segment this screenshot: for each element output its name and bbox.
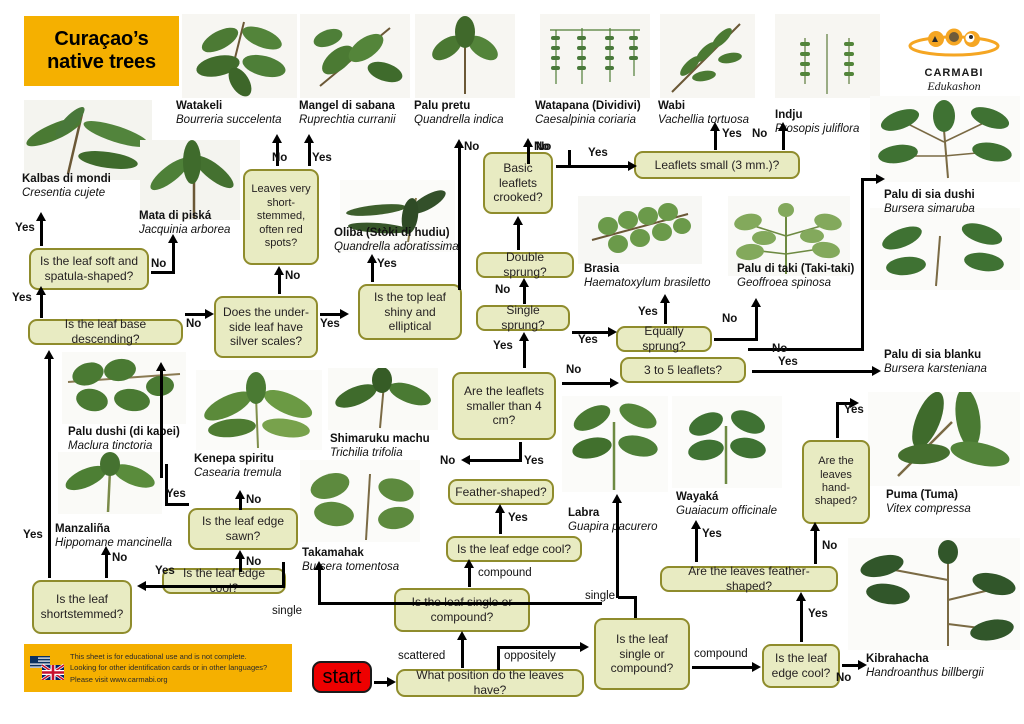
flow-line bbox=[318, 602, 602, 605]
flow-line bbox=[497, 646, 500, 670]
leaf-illustration bbox=[870, 96, 1020, 182]
flow-line bbox=[714, 128, 717, 150]
carmabi-logo-icon bbox=[898, 22, 1010, 62]
flow-line bbox=[634, 596, 637, 618]
edge-label-oppositely: oppositely bbox=[504, 650, 556, 662]
species-scientific-name: Vitex compressa bbox=[886, 502, 971, 517]
edge-label-yes: Yes bbox=[320, 318, 340, 330]
arrowhead-up bbox=[796, 592, 806, 601]
leaf-illustration bbox=[578, 196, 702, 264]
photo-watapana bbox=[540, 14, 650, 98]
species-name: Takamahak bbox=[302, 546, 399, 560]
photo-labra bbox=[562, 396, 668, 492]
edge-label-yes: Yes bbox=[778, 356, 798, 368]
photo-palu-dushi bbox=[62, 352, 186, 424]
arrowhead-right bbox=[858, 660, 867, 670]
leaf-illustration bbox=[58, 452, 162, 514]
edge-label-single: single bbox=[585, 590, 615, 602]
leaf-illustration bbox=[62, 352, 186, 424]
flow-line bbox=[695, 526, 698, 562]
flow-line bbox=[499, 510, 502, 534]
species-scientific-name: Caesalpinia coriaria bbox=[535, 113, 641, 128]
edge-label-no: No bbox=[112, 552, 127, 564]
leaf-illustration bbox=[300, 460, 420, 542]
edge-label-no: No bbox=[566, 364, 581, 376]
arrowhead-up bbox=[304, 134, 314, 143]
decision-leaf-edge-sawn[interactable]: Is the leaf edge sawn? bbox=[188, 508, 298, 550]
arrowhead-up bbox=[751, 298, 761, 307]
species-scientific-name: Handroanthus billbergii bbox=[866, 666, 984, 681]
arrowhead-up bbox=[464, 559, 474, 568]
edge-label-yes: Yes bbox=[166, 488, 186, 500]
edge-label-yes: Yes bbox=[578, 334, 598, 346]
arrowhead-up bbox=[810, 522, 820, 531]
species-name: Brasia bbox=[584, 262, 711, 276]
species-scientific-name: Vachellia tortuosa bbox=[658, 113, 749, 128]
species-scientific-name: Casearia tremula bbox=[194, 466, 282, 481]
leaf-illustration bbox=[182, 14, 297, 98]
decision-leaf-base-descending[interactable]: Is the leaf base descending? bbox=[28, 319, 183, 345]
species-name: Mangel di sabana bbox=[299, 99, 396, 113]
flow-line bbox=[165, 503, 189, 506]
arrowhead-left bbox=[461, 455, 470, 465]
edge-label-no: No bbox=[752, 128, 767, 140]
species-name: Wabi bbox=[658, 99, 749, 113]
arrowhead-right bbox=[580, 642, 589, 652]
species-name: Kalbas di mondi bbox=[22, 172, 111, 186]
edge-label-yes: Yes bbox=[508, 512, 528, 524]
arrowhead-up bbox=[778, 122, 788, 131]
edge-label-yes: Yes bbox=[493, 340, 513, 352]
arrowhead-up bbox=[101, 546, 111, 555]
edge-label-compound: compound bbox=[694, 648, 748, 660]
arrowhead-up bbox=[612, 494, 622, 503]
arrowhead-right bbox=[628, 161, 637, 171]
photo-wabi bbox=[660, 14, 755, 98]
flow-line bbox=[523, 338, 526, 368]
edge-label-no: No bbox=[246, 494, 261, 506]
arrowhead-up bbox=[36, 286, 46, 295]
decision-3-to-5-leaflets[interactable]: 3 to 5 leaflets? bbox=[620, 357, 746, 383]
species-name: Indju bbox=[775, 108, 859, 122]
footer-line-2: Looking for other identification cards o… bbox=[70, 662, 267, 673]
usa-uk-flags-icon bbox=[30, 656, 64, 680]
arrowhead-up bbox=[495, 504, 505, 513]
photo-watakeli bbox=[182, 14, 297, 98]
arrowhead-up bbox=[523, 138, 533, 147]
species-caption-labra: Labra Guapira pacurero bbox=[568, 506, 658, 535]
arrowhead-right bbox=[610, 378, 619, 388]
flow-line bbox=[836, 402, 839, 438]
footer-line-1: This sheet is for educational use and is… bbox=[70, 651, 267, 662]
edge-label-yes: Yes bbox=[312, 152, 332, 164]
species-name: Labra bbox=[568, 506, 658, 520]
arrowhead-up bbox=[513, 216, 523, 225]
flow-line bbox=[517, 222, 520, 250]
edge-label-scattered: scattered bbox=[398, 650, 445, 662]
flow-line bbox=[519, 442, 522, 462]
edge-label-no: No bbox=[464, 141, 479, 153]
species-caption-brasia: Brasia Haematoxylum brasiletto bbox=[584, 262, 711, 291]
arrowhead-up bbox=[156, 362, 166, 371]
flow-line bbox=[185, 313, 207, 316]
species-name: Oliba (Stòki di hudiu) bbox=[334, 226, 459, 240]
arrowhead-up bbox=[314, 561, 324, 570]
arrowhead-right bbox=[387, 677, 396, 687]
flow-line bbox=[461, 638, 464, 668]
arrowhead-up bbox=[519, 278, 529, 287]
photo-kibrahacha bbox=[848, 538, 1020, 650]
flags-icon bbox=[30, 656, 64, 680]
flow-line bbox=[458, 145, 461, 290]
decision-double-sprung[interactable]: Double sprung? bbox=[476, 252, 574, 278]
flow-line bbox=[814, 528, 817, 564]
arrowhead-right bbox=[752, 662, 761, 672]
flow-line bbox=[782, 128, 785, 150]
flow-line bbox=[568, 150, 571, 166]
arrowhead-up bbox=[44, 350, 54, 359]
photo-palu-pretu bbox=[415, 14, 515, 98]
flow-line bbox=[748, 348, 864, 351]
species-scientific-name: Haematoxylum brasiletto bbox=[584, 276, 711, 291]
flow-line bbox=[861, 178, 864, 350]
species-caption-manzalina: Manzaliña Hippomane mancinella bbox=[55, 522, 172, 551]
flow-line bbox=[320, 313, 342, 316]
photo-manzalina bbox=[58, 452, 162, 514]
flow-line bbox=[527, 144, 530, 164]
species-scientific-name: Quandrella adoratissima bbox=[334, 240, 459, 255]
logo-name: CARMABI bbox=[898, 67, 1010, 79]
leaf-illustration bbox=[328, 368, 438, 430]
species-scientific-name: Bursera simaruba bbox=[884, 202, 975, 217]
species-scientific-name: Quandrella indica bbox=[414, 113, 504, 128]
arrowhead-up bbox=[274, 266, 284, 275]
arrowhead-up bbox=[457, 631, 467, 640]
species-scientific-name: Jacquinia arborea bbox=[139, 223, 230, 238]
edge-label-yes: Yes bbox=[702, 528, 722, 540]
leaf-illustration bbox=[672, 396, 782, 488]
flow-line bbox=[752, 370, 876, 373]
edge-label-yes: Yes bbox=[524, 455, 544, 467]
species-name: Shimaruku machu bbox=[330, 432, 430, 446]
decision-soft-spatula-shaped[interactable]: Is the leaf soft and spatula-shaped? bbox=[29, 248, 149, 290]
edge-label-yes: Yes bbox=[808, 608, 828, 620]
decision-leaf-edge-cool-right[interactable]: Is the leaf edge cool? bbox=[762, 644, 840, 688]
species-name: Puma (Tuma) bbox=[886, 488, 971, 502]
species-scientific-name: Hippomane mancinella bbox=[55, 536, 172, 551]
arrowhead-up bbox=[235, 490, 245, 499]
flow-line bbox=[318, 568, 321, 604]
edge-label-yes: Yes bbox=[377, 258, 397, 270]
arrowhead-up bbox=[367, 254, 377, 263]
arrowhead-right bbox=[608, 327, 617, 337]
decision-hand-shaped[interactable]: Are the leaves hand-shaped? bbox=[802, 440, 870, 524]
arrowhead-right bbox=[876, 174, 885, 184]
species-name: Kenepa spiritu bbox=[194, 452, 282, 466]
flow-line bbox=[618, 596, 636, 599]
photo-puma bbox=[868, 392, 1020, 486]
leaf-illustration bbox=[540, 14, 650, 98]
flow-line bbox=[374, 681, 388, 684]
photo-kalbas-di-mondi bbox=[24, 100, 152, 180]
decision-what-position[interactable]: What position do the leaves have? bbox=[396, 669, 584, 697]
leaf-illustration bbox=[140, 140, 240, 220]
decision-leaflets-small-3mm[interactable]: Leaflets small (3 mm.)? bbox=[634, 151, 800, 179]
flow-line bbox=[48, 356, 51, 578]
species-name: Palu dushi (di kabei) bbox=[68, 425, 180, 439]
edge-label-no: No bbox=[186, 318, 201, 330]
decision-feather-shaped-right[interactable]: Are the leaves feather-shaped? bbox=[660, 566, 838, 592]
logo-subtitle: Edukashon bbox=[898, 79, 1010, 94]
edge-label-no: No bbox=[722, 313, 737, 325]
edge-label-yes: Yes bbox=[12, 292, 32, 304]
decision-single-or-compound-left[interactable]: Is the leaf single or compound? bbox=[394, 588, 530, 632]
edge-label-yes: Yes bbox=[23, 529, 43, 541]
arrowhead-right bbox=[872, 366, 881, 376]
flow-line bbox=[40, 292, 43, 318]
decision-leaf-shortstemmed[interactable]: Is the leaf shortstemmed? bbox=[32, 580, 132, 634]
species-caption-palu-pretu: Palu pretu Quandrella indica bbox=[414, 99, 504, 128]
arrowhead-up bbox=[710, 122, 720, 131]
photo-mangel-di-sabana bbox=[300, 14, 410, 98]
flow-line bbox=[497, 646, 581, 649]
edge-label-yes: Yes bbox=[155, 565, 175, 577]
arrowhead-up bbox=[691, 520, 701, 529]
arrowhead-up bbox=[36, 212, 46, 221]
decision-single-sprung[interactable]: Single sprung? bbox=[476, 305, 570, 331]
photo-brasia bbox=[578, 196, 702, 264]
leaf-illustration bbox=[562, 396, 668, 492]
arrowhead-up bbox=[272, 134, 282, 143]
species-scientific-name: Bourreria succelenta bbox=[176, 113, 281, 128]
decision-leaflets-smaller-4cm[interactable]: Are the leaflets smaller than 4 cm? bbox=[452, 372, 556, 440]
species-caption-watakeli: Watakeli Bourreria succelenta bbox=[176, 99, 281, 128]
identification-key-sheet: Curaçao’s native trees CARMABI Edukashon bbox=[0, 0, 1024, 724]
photo-palu-di-sia-dushi bbox=[870, 96, 1020, 182]
species-name: Watakeli bbox=[176, 99, 281, 113]
species-caption-palu-di-sia-dushi: Palu di sia dushi Bursera simaruba bbox=[884, 188, 975, 217]
species-name: Kibrahacha bbox=[866, 652, 984, 666]
edge-label-yes: Yes bbox=[638, 306, 658, 318]
photo-kenepa-spiritu bbox=[196, 370, 322, 450]
leaf-illustration bbox=[775, 14, 880, 98]
leaf-illustration bbox=[868, 392, 1020, 486]
species-name: Wayaká bbox=[676, 490, 777, 504]
flow-line bbox=[172, 240, 175, 273]
edge-label-no: No bbox=[440, 455, 455, 467]
flow-line bbox=[160, 368, 163, 478]
flow-line bbox=[616, 500, 619, 598]
species-caption-watapana: Watapana (Dividivi) Caesalpinia coriaria bbox=[535, 99, 641, 128]
species-name: Palu di sia blanku bbox=[884, 348, 987, 362]
species-caption-palu-di-sia-blanku: Palu di sia blanku Bursera karsteniana bbox=[884, 348, 987, 377]
edge-label-yes: Yes bbox=[588, 147, 608, 159]
species-name: Watapana (Dividivi) bbox=[535, 99, 641, 113]
decision-single-or-compound-right[interactable]: Is the leaf single or compound? bbox=[594, 618, 690, 690]
leaf-illustration bbox=[848, 538, 1020, 650]
photo-shimaruku-machu bbox=[328, 368, 438, 430]
species-caption-palu-dushi: Palu dushi (di kabei) Maclura tinctoria bbox=[68, 425, 180, 454]
species-scientific-name: Guaiacum officinale bbox=[676, 504, 777, 519]
leaf-illustration bbox=[300, 14, 410, 98]
edge-label-no: No bbox=[272, 152, 287, 164]
photo-takamahak bbox=[300, 460, 420, 542]
flow-line bbox=[371, 260, 374, 282]
species-name: Palu di taki (Taki-taki) bbox=[737, 262, 854, 276]
flow-line bbox=[714, 338, 758, 341]
page-title: Curaçao’s native trees bbox=[24, 16, 179, 86]
species-caption-wayaka: Wayaká Guaiacum officinale bbox=[676, 490, 777, 519]
flow-line bbox=[105, 552, 108, 578]
arrowhead-up bbox=[235, 550, 245, 559]
species-caption-wabi: Wabi Vachellia tortuosa bbox=[658, 99, 749, 128]
flow-line bbox=[146, 585, 285, 588]
edge-label-single: single bbox=[272, 605, 302, 617]
flow-line bbox=[278, 272, 281, 294]
edge-label-yes: Yes bbox=[844, 404, 864, 416]
edge-label-no: No bbox=[822, 540, 837, 552]
leaf-illustration bbox=[24, 100, 152, 180]
edge-label-no: No bbox=[836, 672, 851, 684]
photo-mata-di-piska bbox=[140, 140, 240, 220]
species-scientific-name: Ruprechtia curranii bbox=[299, 113, 396, 128]
decision-silver-scales[interactable]: Does the under-side leaf have silver sca… bbox=[214, 296, 318, 358]
flow-line bbox=[664, 300, 667, 324]
species-caption-kalbas-di-mondi: Kalbas di mondi Cresentia cujete bbox=[22, 172, 111, 201]
species-caption-kibrahacha: Kibrahacha Handroanthus billbergii bbox=[866, 652, 984, 681]
leaf-illustration bbox=[870, 208, 1020, 290]
species-scientific-name: Geoffroea spinosa bbox=[737, 276, 854, 291]
flow-line bbox=[755, 304, 758, 340]
arrowhead-up bbox=[660, 294, 670, 303]
species-caption-mata-di-piska: Mata di piská Jacquinia arborea bbox=[139, 209, 230, 238]
species-caption-palu-di-taki: Palu di taki (Taki-taki) Geoffroea spino… bbox=[737, 262, 854, 291]
edge-label-no: No bbox=[285, 270, 300, 282]
flow-line bbox=[800, 598, 803, 642]
arrowhead-up bbox=[454, 139, 464, 148]
species-scientific-name: Trichilia trifolia bbox=[330, 446, 430, 461]
decision-basic-leaflets-crooked[interactable]: Basic leaflets crooked? bbox=[483, 152, 553, 214]
flow-line bbox=[40, 218, 43, 246]
footer-line-3: Please visit www.carmabi.org bbox=[70, 674, 267, 685]
start-button[interactable]: start bbox=[312, 661, 372, 693]
edge-label-no: No bbox=[495, 284, 510, 296]
flow-line bbox=[468, 565, 471, 587]
flow-line bbox=[308, 140, 311, 166]
species-name: Mata di piská bbox=[139, 209, 230, 223]
edge-label-no: No bbox=[246, 556, 261, 568]
arrowhead-right bbox=[205, 309, 214, 319]
species-scientific-name: Bursera karsteniana bbox=[884, 362, 987, 377]
arrowhead-right bbox=[340, 309, 349, 319]
leaf-illustration bbox=[415, 14, 515, 98]
decision-equally-sprung[interactable]: Equally sprung? bbox=[616, 326, 712, 352]
edge-label-yes: Yes bbox=[722, 128, 742, 140]
species-name: Palu pretu bbox=[414, 99, 504, 113]
decision-feather-shaped-left[interactable]: Feather-shaped? bbox=[448, 479, 554, 505]
decision-leaf-edge-cool-low[interactable]: Is the leaf edge cool? bbox=[162, 568, 286, 594]
leaf-illustration bbox=[660, 14, 755, 98]
carmabi-logo: CARMABI Edukashon bbox=[898, 22, 1010, 94]
decision-short-stemmed-red-spots[interactable]: Leaves very short-stemmed, often red spo… bbox=[243, 169, 319, 265]
arrowhead-up bbox=[168, 234, 178, 243]
edge-label-yes: Yes bbox=[15, 222, 35, 234]
species-scientific-name: Cresentia cujete bbox=[22, 186, 111, 201]
flow-line bbox=[470, 459, 522, 462]
flow-line bbox=[562, 382, 614, 385]
footer-note: This sheet is for educational use and is… bbox=[24, 644, 292, 692]
edge-label-compound: compound bbox=[478, 567, 532, 579]
species-caption-mangel-di-sabana: Mangel di sabana Ruprechtia curranii bbox=[299, 99, 396, 128]
edge-label-no: No bbox=[536, 141, 551, 153]
species-scientific-name: Guapira pacurero bbox=[568, 520, 658, 535]
species-caption-kenepa-spiritu: Kenepa spiritu Casearia tremula bbox=[194, 452, 282, 481]
species-caption-oliba: Oliba (Stòki di hudiu) Quandrella adorat… bbox=[334, 226, 459, 255]
species-name: Manzaliña bbox=[55, 522, 172, 536]
arrowhead-up bbox=[519, 332, 529, 341]
species-scientific-name: Maclura tinctoria bbox=[68, 439, 180, 454]
photo-palu-di-sia-blanku bbox=[870, 208, 1020, 290]
decision-top-leaf-shiny[interactable]: Is the top leaf shiny and elliptical bbox=[358, 284, 462, 340]
edge-label-no: No bbox=[151, 258, 166, 270]
species-name: Palu di sia dushi bbox=[884, 188, 975, 202]
leaf-illustration bbox=[196, 370, 322, 450]
photo-indju bbox=[775, 14, 880, 98]
species-caption-puma: Puma (Tuma) Vitex compressa bbox=[886, 488, 971, 517]
photo-wayaka bbox=[672, 396, 782, 488]
flow-line bbox=[692, 666, 754, 669]
flow-line bbox=[523, 284, 526, 304]
edge-label-no: No bbox=[772, 343, 787, 355]
arrowhead-left bbox=[137, 581, 146, 591]
species-caption-shimaruku-machu: Shimaruku machu Trichilia trifolia bbox=[330, 432, 430, 461]
